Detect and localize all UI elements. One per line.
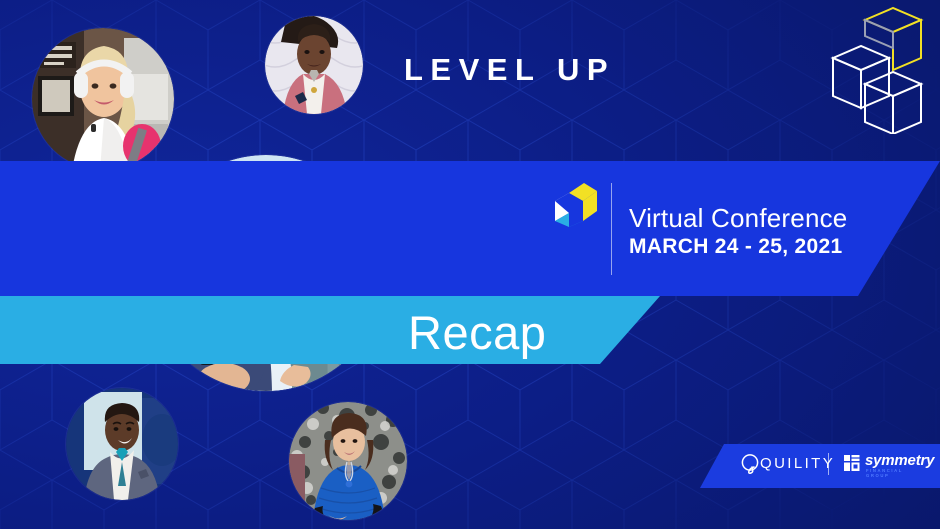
banner-subtitle: Virtual Conference	[629, 203, 847, 234]
banner-divider	[611, 183, 612, 275]
quility-q-icon	[740, 453, 762, 475]
promo-graphic: LEVEL UP Virtual Conference MARCH 24 - 2…	[0, 0, 940, 529]
banner-dates: MARCH 24 - 25, 2021	[629, 235, 842, 259]
speaker-photo-woman-blue-top-art	[289, 402, 407, 520]
quility-cube-icon	[551, 181, 598, 227]
speaker-photo-man-pink-blazer	[265, 16, 363, 114]
isometric-cubes-icon	[825, 6, 935, 134]
speaker-photo-man-pink-blazer-art	[265, 16, 363, 114]
symmetry-blocks-icon	[843, 454, 861, 472]
recap-bar	[0, 296, 660, 364]
brand-bar-divider	[828, 453, 829, 475]
level-up-title: LEVEL UP	[404, 52, 615, 88]
symmetry-tagline: FINANCIAL GROUP	[866, 468, 903, 478]
speaker-photo-woman-headphones	[32, 28, 174, 170]
quility-wordmark: QUILITY	[760, 455, 835, 472]
recap-label: Recap	[408, 305, 546, 360]
speaker-photo-woman-headphones-art	[32, 28, 174, 170]
speaker-photo-man-grey-suit	[66, 388, 178, 500]
speaker-photo-man-grey-suit-art	[66, 388, 178, 500]
speaker-photo-woman-blue-top	[289, 402, 407, 520]
symmetry-wordmark: symmetry	[865, 452, 934, 469]
